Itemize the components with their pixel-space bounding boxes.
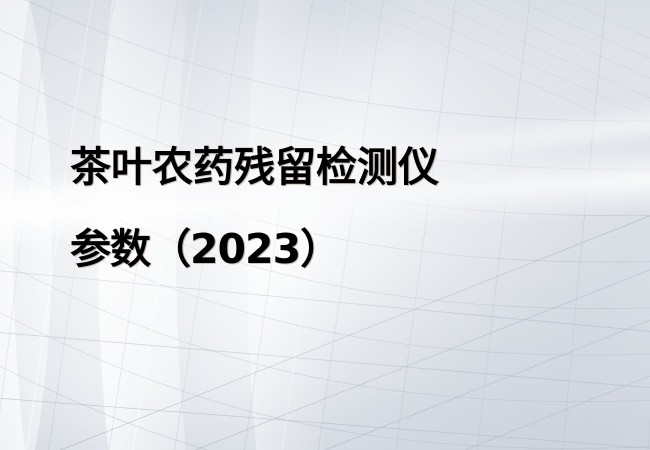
banner-title-line-1: 茶叶农药残留检测仪 bbox=[70, 126, 439, 208]
banner-title-line-2: 参数（2023） bbox=[70, 208, 439, 290]
title-banner: 茶叶农药残留检测仪 参数（2023） bbox=[0, 0, 650, 450]
banner-title: 茶叶农药残留检测仪 参数（2023） bbox=[70, 126, 439, 290]
